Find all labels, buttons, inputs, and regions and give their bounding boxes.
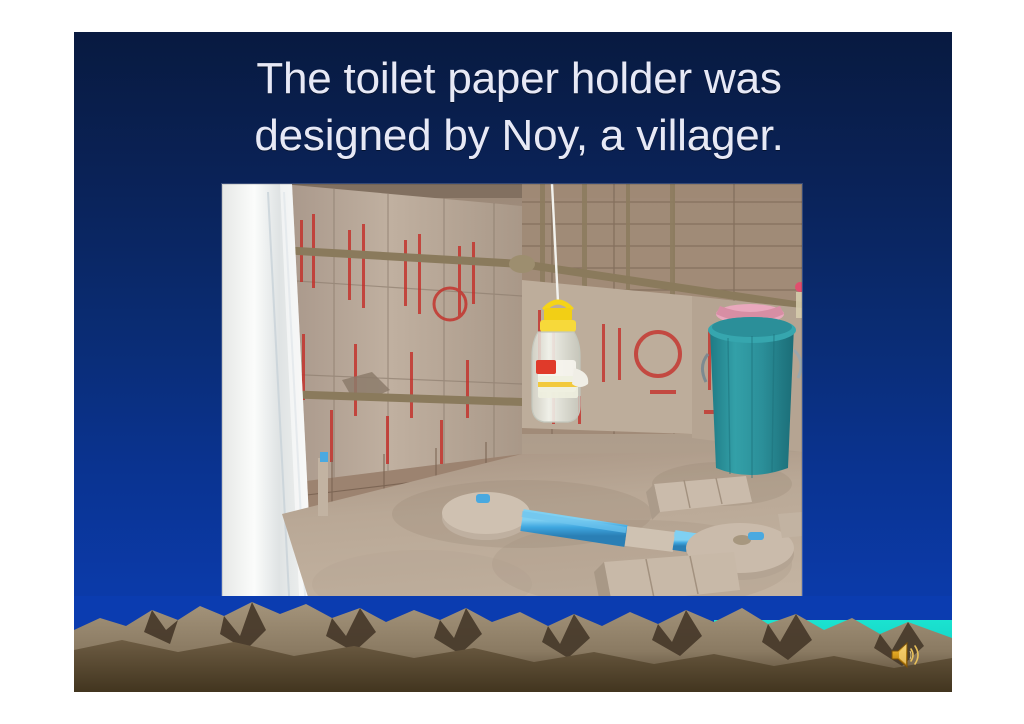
title-line-1: The toilet paper holder was: [146, 50, 892, 107]
slide-photo: [222, 184, 802, 616]
slide-title: The toilet paper holder was designed by …: [74, 50, 952, 164]
speaker-glyph: [890, 640, 924, 670]
presentation-slide: The toilet paper holder was designed by …: [74, 32, 952, 692]
bottom-decoration: [74, 596, 952, 692]
title-line-2: designed by Noy, a villager.: [146, 107, 892, 164]
speaker-icon[interactable]: [890, 640, 924, 670]
mountain-water-graphic: [74, 596, 952, 692]
screenshot-root: The toilet paper holder was designed by …: [0, 0, 1024, 724]
photo-illustration: [222, 184, 802, 616]
